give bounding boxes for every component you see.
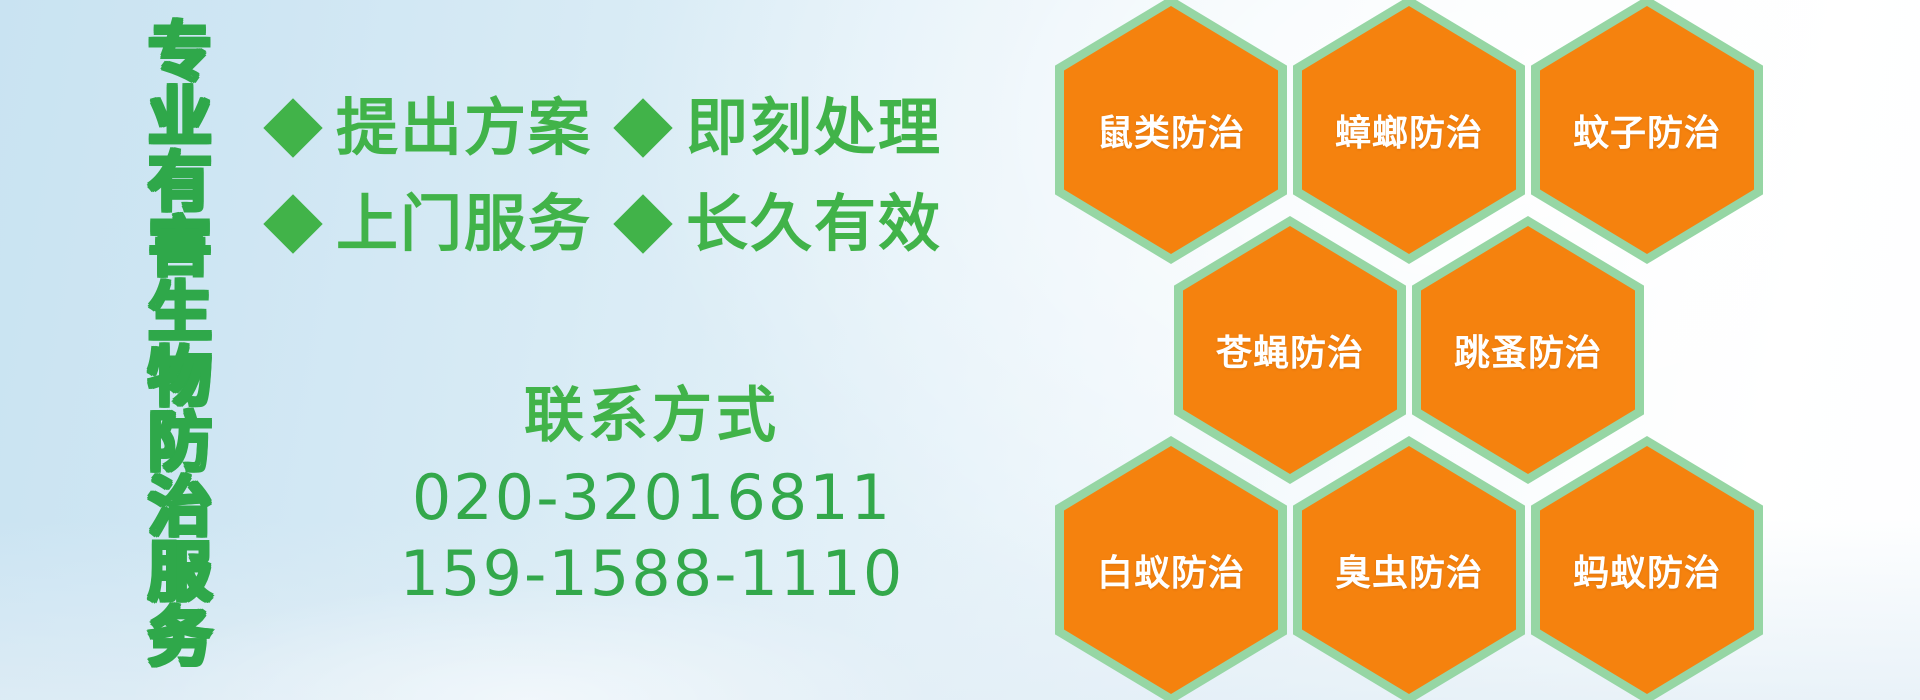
diamond-bullet-icon bbox=[613, 194, 672, 253]
service-label: 白蚁防治 bbox=[1097, 544, 1245, 596]
phone-mobile[interactable]: 159-1588-1110 bbox=[272, 536, 1032, 612]
contact-title: 联系方式 bbox=[272, 385, 1032, 448]
service-hexagon[interactable]: 鼠类防治 bbox=[1055, 0, 1287, 264]
diamond-bullet-icon bbox=[263, 98, 322, 157]
feature-item: 即刻处理 bbox=[622, 97, 942, 159]
service-hexagon[interactable]: 跳蚤防治 bbox=[1412, 216, 1644, 484]
pest-control-banner: 专业有害生物防治服务 提出方案 即刻处理 上门服务 长久有效 联 bbox=[0, 0, 1920, 700]
feature-item: 长久有效 bbox=[622, 193, 942, 255]
service-label: 蚂蚁防治 bbox=[1573, 544, 1721, 596]
service-label: 蚊子防治 bbox=[1573, 104, 1721, 156]
service-hexagon[interactable]: 白蚁防治 bbox=[1055, 436, 1287, 700]
service-label: 跳蚤防治 bbox=[1454, 324, 1602, 376]
service-label: 臭虫防治 bbox=[1335, 544, 1483, 596]
vertical-headline: 专业有害生物防治服务 bbox=[110, 8, 206, 678]
phone-landline[interactable]: 020-32016811 bbox=[272, 460, 1032, 536]
service-label: 鼠类防治 bbox=[1097, 104, 1245, 156]
diamond-bullet-icon bbox=[613, 98, 672, 157]
feature-row: 提出方案 即刻处理 bbox=[272, 80, 1072, 176]
service-hexagon[interactable]: 臭虫防治 bbox=[1293, 436, 1525, 700]
service-hexagon[interactable]: 蚂蚁防治 bbox=[1531, 436, 1763, 700]
service-hexagon[interactable]: 苍蝇防治 bbox=[1174, 216, 1406, 484]
service-hexagon[interactable]: 蟑螂防治 bbox=[1293, 0, 1525, 264]
service-honeycomb: 鼠类防治 蟑螂防治 蚊子防治 苍蝇防治 跳蚤防治 白蚁防治 臭虫防治 bbox=[1055, 0, 1845, 700]
service-label: 苍蝇防治 bbox=[1216, 324, 1364, 376]
contact-block: 联系方式 020-32016811 159-1588-1110 bbox=[272, 385, 1032, 611]
service-hexagon[interactable]: 蚊子防治 bbox=[1531, 0, 1763, 264]
feature-label: 即刻处理 bbox=[686, 97, 942, 159]
feature-row: 上门服务 长久有效 bbox=[272, 176, 1072, 272]
diamond-bullet-icon bbox=[263, 194, 322, 253]
feature-item: 提出方案 bbox=[272, 97, 592, 159]
feature-label: 长久有效 bbox=[686, 193, 942, 255]
feature-label: 提出方案 bbox=[336, 97, 592, 159]
feature-list: 提出方案 即刻处理 上门服务 长久有效 bbox=[272, 80, 1072, 272]
service-label: 蟑螂防治 bbox=[1335, 104, 1483, 156]
feature-item: 上门服务 bbox=[272, 193, 592, 255]
feature-label: 上门服务 bbox=[336, 193, 592, 255]
